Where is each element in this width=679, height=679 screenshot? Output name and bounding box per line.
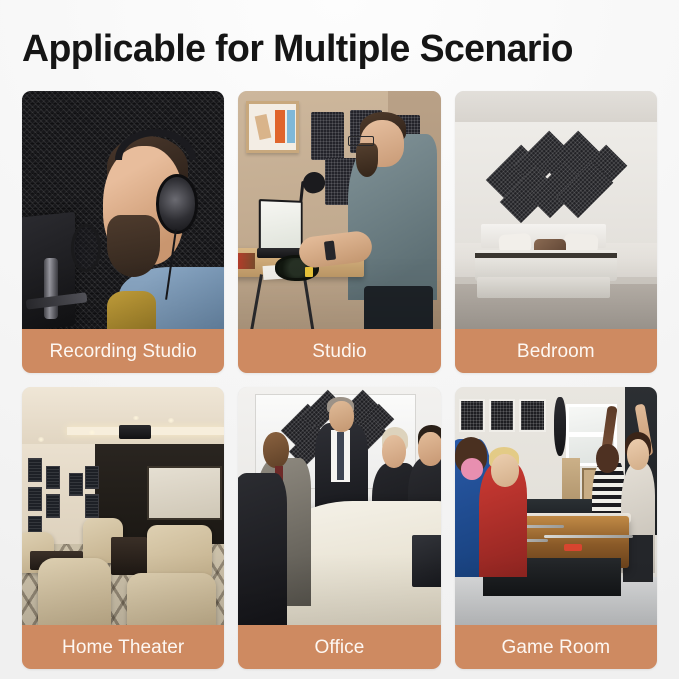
water-bottle	[368, 496, 376, 525]
scenario-card-recording-studio[interactable]: Recording Studio	[22, 91, 224, 373]
card-label-bedroom: Bedroom	[455, 329, 657, 373]
headphones-accent	[305, 267, 313, 277]
office-chair	[364, 286, 433, 329]
card-label-recording-studio: Recording Studio	[22, 329, 224, 373]
scenario-grid: Recording Studio	[22, 91, 657, 669]
face	[418, 432, 440, 465]
coffee-cup	[348, 563, 362, 584]
foosball-rod	[544, 535, 633, 538]
poster-root: Applicable for Multiple Scenario Record	[0, 0, 679, 679]
acoustic-panel-icon	[459, 399, 485, 432]
headphones-icon	[461, 458, 483, 479]
face	[627, 439, 649, 470]
acoustic-panel-icon	[489, 399, 515, 432]
condenser-microphone-icon	[44, 258, 58, 320]
beard	[107, 215, 160, 277]
page-title: Applicable for Multiple Scenario	[22, 0, 647, 68]
acoustic-panel-icon	[519, 399, 545, 432]
acoustic-panel-icon	[311, 112, 343, 160]
projection-screen-icon	[147, 466, 222, 521]
acoustic-panel-icon	[46, 494, 60, 518]
books-stack	[238, 253, 254, 270]
photo-office	[238, 387, 440, 625]
inner-shirt	[107, 291, 156, 329]
photo-game-room	[455, 387, 657, 625]
ceiling	[22, 387, 224, 449]
headphone-earcup-icon	[156, 174, 198, 234]
face	[382, 435, 406, 468]
scenario-card-studio[interactable]: Studio	[238, 91, 440, 373]
coffee-cup	[321, 511, 333, 528]
ceiling	[455, 91, 657, 122]
laptop-screen-icon	[258, 199, 301, 253]
bed-frame-rail	[475, 253, 617, 258]
laptop-icon	[412, 535, 440, 587]
beard	[356, 143, 378, 176]
theater-armchair	[147, 525, 212, 577]
skateboard-icon	[554, 397, 566, 457]
card-label-studio: Studio	[238, 329, 440, 373]
ceiling-spotlight-icon	[38, 437, 44, 442]
scenario-card-game-room[interactable]: Game Room	[455, 387, 657, 669]
paper-sheet	[343, 605, 393, 625]
bed-base	[477, 277, 611, 298]
acoustic-panel-icon	[28, 487, 42, 511]
acoustic-panel-icon	[85, 466, 99, 490]
scenario-card-home-theater[interactable]: Home Theater	[22, 387, 224, 669]
pop-filter-icon	[71, 224, 101, 272]
card-label-office: Office	[238, 625, 440, 669]
face	[238, 449, 266, 485]
ceiling-spotlight-icon	[89, 430, 95, 435]
scenario-card-bedroom[interactable]: Bedroom	[455, 91, 657, 373]
artwork-shape-orange	[275, 110, 285, 143]
face	[329, 401, 353, 432]
side-table	[111, 537, 147, 575]
projector-icon	[119, 425, 151, 439]
face	[491, 454, 519, 487]
face	[596, 444, 618, 473]
coffee-cup	[374, 535, 384, 549]
acoustic-panel-icon	[85, 494, 99, 518]
acoustic-panel-icon	[28, 458, 42, 482]
acoustic-panel-icon	[69, 473, 83, 497]
card-label-game-room: Game Room	[455, 625, 657, 669]
attendee-torso	[238, 473, 287, 625]
photo-studio	[238, 91, 440, 329]
water-bottle	[378, 558, 386, 591]
card-label-home-theater: Home Theater	[22, 625, 224, 669]
photo-bedroom	[455, 91, 657, 329]
theater-armchair	[127, 573, 216, 625]
photo-home-theater	[22, 387, 224, 625]
acoustic-panel-icon	[46, 466, 60, 490]
presenter-tie	[337, 432, 343, 480]
photo-recording-studio	[22, 91, 224, 329]
artwork-shape-blue	[287, 110, 295, 143]
scenario-card-office[interactable]: Office	[238, 387, 440, 669]
ceiling-spotlight-icon	[168, 418, 174, 423]
eyeglasses-icon	[348, 136, 374, 146]
foosball-handle	[564, 544, 582, 551]
theater-armchair	[38, 558, 111, 625]
